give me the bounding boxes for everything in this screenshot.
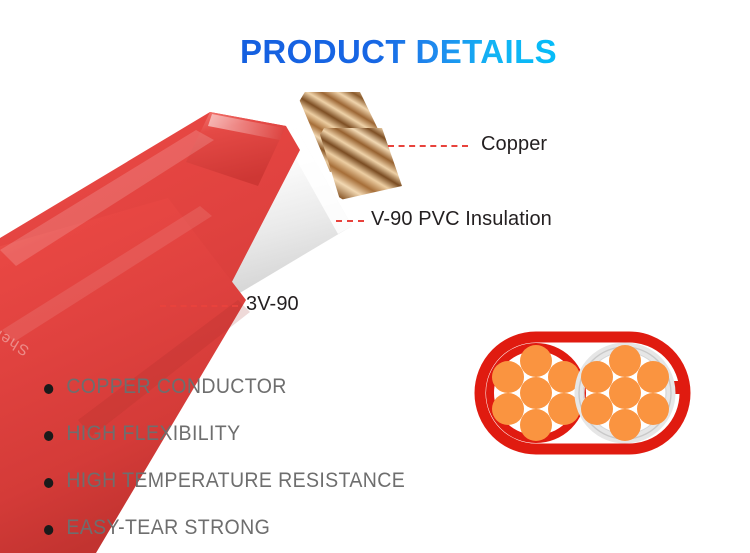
- bullet-icon: [44, 525, 53, 535]
- feature-item: HIGH FLEXIBILITY: [44, 422, 405, 446]
- feature-item: HIGH TEMPERATURE RESISTANCE: [44, 469, 405, 493]
- callout-label-copper: Copper: [481, 133, 547, 156]
- bullet-icon: [44, 384, 53, 394]
- feature-label: HIGH TEMPERATURE RESISTANCE: [66, 469, 405, 492]
- cable-cross-section-diagram: [455, 315, 715, 460]
- bullet-icon: [44, 478, 53, 488]
- feature-list: COPPER CONDUCTOR HIGH FLEXIBILITY HIGH T…: [44, 375, 432, 553]
- leader-line-copper: [388, 145, 468, 147]
- callout-label-pvc-insulation: V-90 PVC Insulation: [371, 208, 552, 231]
- feature-item: COPPER CONDUCTOR: [44, 375, 405, 399]
- callout-label-jacket-rating: 3V-90: [246, 293, 299, 316]
- product-details-banner: PRODUCT DETAILS: [0, 0, 750, 553]
- feature-item: EASY-TEAR STRONG: [44, 516, 405, 540]
- feature-label: EASY-TEAR STRONG: [66, 516, 270, 539]
- feature-label: COPPER CONDUCTOR: [66, 375, 286, 398]
- leader-line-jacket-rating: [160, 305, 238, 307]
- bullet-icon: [44, 431, 53, 441]
- leader-line-pvc-insulation: [336, 220, 364, 222]
- feature-label: HIGH FLEXIBILITY: [66, 422, 240, 445]
